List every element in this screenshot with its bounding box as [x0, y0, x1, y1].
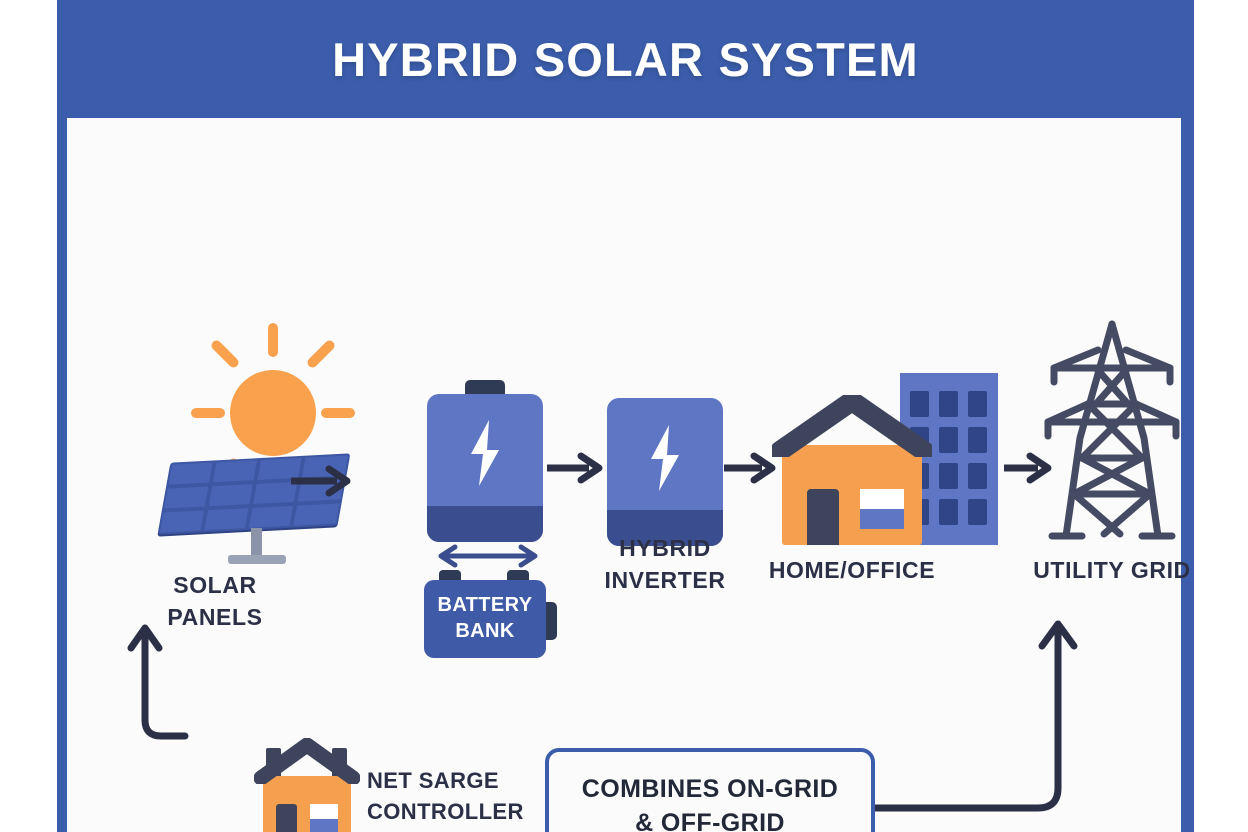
- office-window: [939, 463, 958, 489]
- office-window: [968, 391, 987, 417]
- transmission-tower-icon: [1042, 318, 1182, 548]
- net-surge-controller-label: NET SARGE CONTROLLER: [367, 766, 537, 828]
- office-window: [939, 427, 958, 453]
- solar-panel-post: [251, 528, 262, 558]
- sun-core: [230, 370, 316, 456]
- diagram-canvas: SOLAR PANELS BATTERY BANK: [67, 118, 1181, 832]
- office-window: [939, 499, 958, 525]
- solar-cell: [164, 486, 208, 508]
- callout-box: COMBINES ON-GRID & OFF-GRID: [545, 748, 875, 832]
- solar-cell: [293, 503, 339, 525]
- sun-ray-ne: [305, 338, 336, 369]
- solar-cell: [160, 510, 204, 532]
- office-window: [939, 391, 958, 417]
- solar-cell: [213, 460, 257, 482]
- house-window-lower: [310, 819, 338, 832]
- house-door: [276, 804, 297, 832]
- house-window-upper: [310, 804, 338, 819]
- house-roof: [254, 738, 360, 784]
- utility-grid-label: UTILITY GRID: [927, 555, 1248, 587]
- sun-ray-nw: [209, 338, 240, 369]
- lightning-bolt-icon: [463, 418, 507, 488]
- home-office-icon: [772, 373, 1002, 548]
- arrow-panel-to-battery: [289, 463, 359, 499]
- solar-panel-foot: [228, 555, 286, 564]
- house-roof: [772, 395, 932, 457]
- sun-ray-w: [191, 408, 225, 418]
- solar-cell: [249, 506, 293, 528]
- office-window: [968, 499, 987, 525]
- sun-ray-e: [321, 408, 355, 418]
- battery-charge-fill: [427, 506, 543, 542]
- arrow-battery-bidirectional: [433, 542, 543, 572]
- office-window: [968, 427, 987, 453]
- solar-cell: [204, 508, 248, 530]
- house-door: [807, 489, 839, 545]
- arrow-battery-to-inverter: [545, 450, 611, 486]
- house-window-upper: [860, 489, 904, 509]
- lightning-bolt-icon: [643, 423, 687, 493]
- battery-bank-label: BATTERY BANK: [424, 580, 546, 658]
- infographic-poster: HYBRID SOLAR SYSTEM: [0, 0, 1248, 832]
- house-icon: [250, 736, 365, 832]
- solar-cell: [209, 484, 253, 506]
- arrow-callout-to-solar: [127, 588, 247, 748]
- solar-cell: [169, 463, 213, 485]
- sun-ray-n: [268, 323, 278, 357]
- house-window-lower: [860, 509, 904, 529]
- office-window: [968, 463, 987, 489]
- page-title: HYBRID SOLAR SYSTEM: [57, 0, 1194, 118]
